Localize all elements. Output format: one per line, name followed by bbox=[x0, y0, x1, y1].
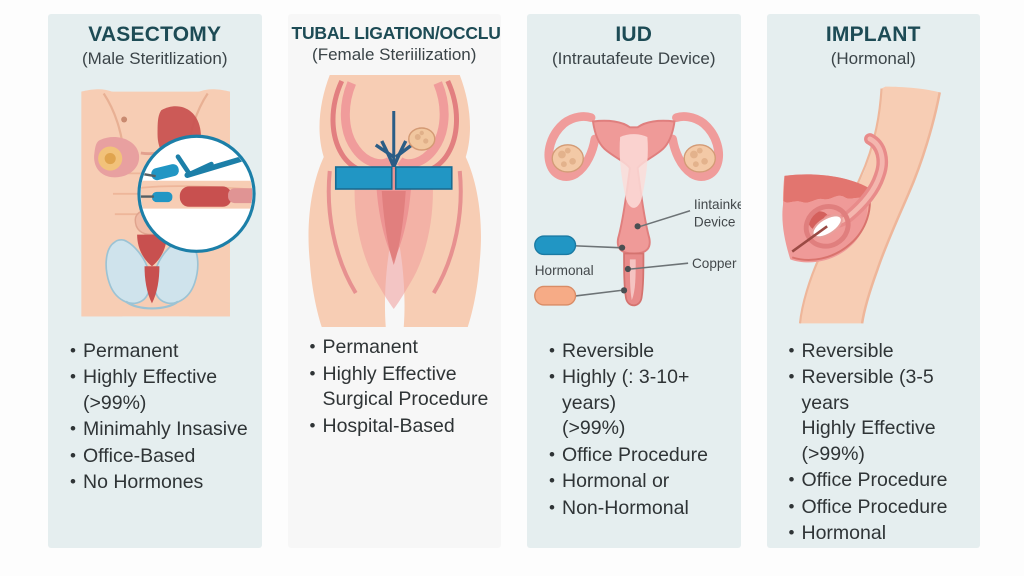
bullet-icon: • bbox=[789, 339, 802, 364]
bullet-icon: • bbox=[549, 496, 562, 521]
list-item: •Permanent bbox=[310, 335, 502, 361]
fact-text: Non-Hormonal bbox=[562, 496, 741, 522]
fact-text: Permanent bbox=[83, 339, 262, 365]
callout-dot-hormonal bbox=[619, 244, 625, 250]
ovary-shape bbox=[408, 128, 434, 150]
fact-text: Minimahly Insasive bbox=[83, 417, 262, 443]
callout-dot-device bbox=[635, 223, 641, 229]
fact-text: Office Procedure bbox=[802, 495, 981, 521]
callout-dot-copper-swatch bbox=[621, 287, 627, 293]
list-item: •Reversible (3-5 years Highly Effective … bbox=[789, 365, 981, 467]
facts-list-vasectomy: •Permanent •Highly Effective (>99%) •Min… bbox=[48, 333, 262, 497]
bullet-icon: • bbox=[310, 414, 323, 439]
panel-implant: IMPLANT (Hormonal) bbox=[767, 14, 981, 548]
bullet-icon: • bbox=[70, 339, 83, 364]
list-item: •Reversible bbox=[549, 339, 741, 365]
fact-text: Office Procedure bbox=[562, 443, 741, 469]
fact-text: Reversible (3-5 years Highly Effective (… bbox=[802, 365, 981, 467]
swatch-hormonal-iud-icon bbox=[535, 236, 576, 254]
bullet-icon: • bbox=[549, 443, 562, 468]
bullet-icon: • bbox=[310, 362, 323, 387]
illustration-uterus-iud: Hormonal Iintainkeo Device Copper bbox=[527, 75, 741, 333]
panel-subtitle-iud: (Intrautafeute Device) bbox=[552, 50, 715, 69]
bullet-icon: • bbox=[549, 469, 562, 494]
fact-text: Hospital-Based bbox=[323, 414, 502, 440]
list-item: •Office-Based bbox=[70, 444, 262, 470]
bullet-icon: • bbox=[310, 335, 323, 360]
fact-text: Office-Based bbox=[83, 444, 262, 470]
bullet-icon: • bbox=[789, 365, 802, 390]
bullet-icon: • bbox=[789, 521, 802, 546]
swatch-copper-iud-icon bbox=[535, 286, 576, 304]
list-item: •Reversible bbox=[789, 339, 981, 365]
list-item: •No Hormones bbox=[70, 470, 262, 496]
clamp-left-icon bbox=[335, 167, 391, 189]
panel-title-tubal-ligation: TUBAL LIGATION/OCCLUSION bbox=[288, 24, 502, 42]
fact-text: Office Procedure bbox=[802, 468, 981, 494]
fact-text: Highly Effective (>99%) bbox=[83, 365, 262, 416]
list-item: •Minimahly Insasive bbox=[70, 417, 262, 443]
label-device-line2: Device bbox=[694, 214, 736, 229]
facts-list-implant: •Reversible •Reversible (3-5 years Highl… bbox=[767, 333, 981, 548]
list-item: •Hormonal bbox=[789, 521, 981, 547]
panel-subtitle-vasectomy: (Male Steritlization) bbox=[82, 50, 228, 69]
panel-title-vasectomy: VASECTOMY bbox=[48, 24, 262, 46]
fact-text: Highly Effective Surgical Procedure bbox=[323, 362, 502, 413]
bullet-icon: • bbox=[70, 470, 83, 495]
ovary-left-shape bbox=[552, 145, 583, 172]
list-item: •Office Procedure bbox=[789, 468, 981, 494]
list-item: •Office Procedure bbox=[789, 495, 981, 521]
label-hormonal: Hormonal bbox=[535, 263, 594, 278]
magnifier-inset bbox=[137, 136, 260, 251]
list-item: •Highly Effective (>99%) bbox=[70, 365, 262, 416]
list-item: •Non-Hormonal bbox=[549, 496, 741, 522]
panel-title-implant: IMPLANT bbox=[767, 24, 981, 46]
list-item: •Hospital-Based bbox=[310, 414, 502, 440]
fact-text: No Hormones bbox=[83, 470, 262, 496]
callout-dot-copper bbox=[625, 266, 631, 272]
fact-text: Reversible bbox=[802, 339, 981, 365]
list-item: •Office Procedure bbox=[549, 443, 741, 469]
fact-text: Hormonal bbox=[802, 521, 981, 547]
label-device-line1: Iintainkeo bbox=[694, 197, 741, 212]
fact-text: Reversible bbox=[562, 339, 741, 365]
illustration-male-anatomy bbox=[48, 75, 262, 333]
bullet-icon: • bbox=[70, 444, 83, 469]
fact-text: Highly (: 3-10+ years) (>99%) bbox=[562, 365, 741, 442]
list-item: •Highly Effective Surgical Procedure bbox=[310, 362, 502, 413]
clamp-right-icon bbox=[395, 167, 451, 189]
facts-list-tubal-ligation: •Permanent •Highly Effective Surgical Pr… bbox=[288, 329, 502, 440]
bullet-icon: • bbox=[70, 365, 83, 390]
panel-vasectomy: VASECTOMY (Male Steritlization) bbox=[48, 14, 262, 548]
facts-list-iud: •Reversible •Highly (: 3-10+ years) (>99… bbox=[527, 333, 741, 523]
list-item: •Permanent bbox=[70, 339, 262, 365]
label-copper: Copper bbox=[692, 256, 737, 271]
panel-subtitle-implant: (Hormonal) bbox=[831, 50, 916, 69]
illustration-arm-implant bbox=[767, 75, 981, 333]
bullet-icon: • bbox=[70, 417, 83, 442]
panel-title-iud: IUD bbox=[527, 24, 741, 46]
list-item: •Highly (: 3-10+ years) (>99%) bbox=[549, 365, 741, 442]
bullet-icon: • bbox=[789, 468, 802, 493]
fact-text: Permanent bbox=[323, 335, 502, 361]
bullet-icon: • bbox=[789, 495, 802, 520]
panel-tubal-ligation: TUBAL LIGATION/OCCLUSION (Female Steriil… bbox=[288, 14, 502, 548]
panel-iud: IUD (Intrautafeute Device) bbox=[527, 14, 741, 548]
ovary-right-shape bbox=[684, 145, 715, 172]
panel-subtitle-tubal-ligation: (Female Steriilization) bbox=[312, 46, 476, 65]
bullet-icon: • bbox=[549, 339, 562, 364]
list-item: •Hormonal or bbox=[549, 469, 741, 495]
illustration-female-anatomy bbox=[288, 71, 502, 329]
infographic-board: VASECTOMY (Male Steritlization) bbox=[0, 0, 1024, 576]
bullet-icon: • bbox=[549, 365, 562, 390]
fact-text: Hormonal or bbox=[562, 469, 741, 495]
